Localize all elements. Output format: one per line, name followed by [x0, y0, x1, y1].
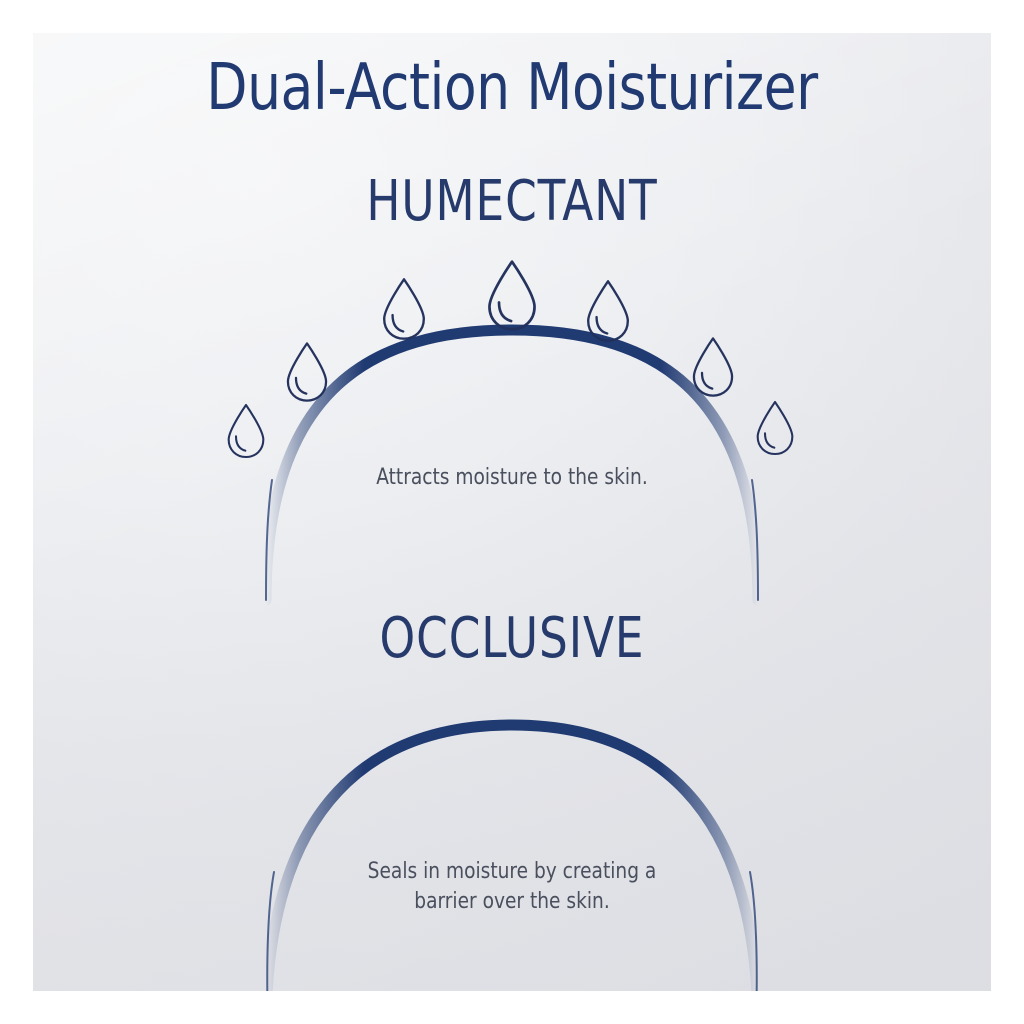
infographic-panel: Dual-Action Moisturizer HUMECTANT Attrac…: [33, 33, 991, 991]
page-title: Dual-Action Moisturizer: [67, 56, 958, 120]
caption-line: Attracts moisture to the skin.: [62, 463, 963, 493]
droplet-cluster: [229, 262, 793, 457]
water-droplet-icon: [758, 402, 793, 454]
section-caption-occlusive: Seals in moisture by creating a barrier …: [62, 857, 963, 918]
water-droplet-icon: [489, 262, 534, 330]
section-heading-humectant: HUMECTANT: [81, 174, 943, 230]
section-heading-occlusive: OCCLUSIVE: [81, 611, 943, 667]
caption-line: barrier over the skin.: [62, 887, 963, 917]
water-droplet-icon: [229, 405, 264, 457]
infographic-canvas: Dual-Action Moisturizer HUMECTANT Attrac…: [0, 0, 1024, 1024]
caption-line: Seals in moisture by creating a: [62, 857, 963, 887]
water-droplet-icon: [384, 279, 424, 338]
water-droplet-icon: [694, 338, 732, 395]
water-droplet-icon: [588, 281, 628, 340]
section-caption-humectant: Attracts moisture to the skin.: [62, 463, 963, 493]
water-droplet-icon: [288, 343, 326, 400]
